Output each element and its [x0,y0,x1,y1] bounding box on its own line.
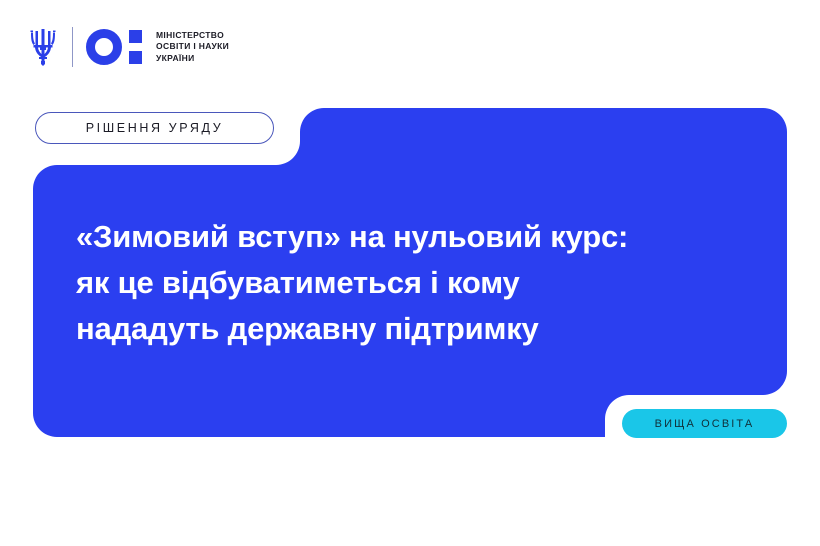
ministry-line-1: МІНІСТЕРСТВО [156,30,229,42]
ministry-line-2: ОСВІТИ І НАУКИ [156,41,229,53]
square-marks-group [129,30,142,64]
square-mark-top-icon [129,30,142,43]
category-tag-label: ВИЩА ОСВІТА [655,418,755,430]
ring-o-mark-icon [86,29,122,65]
government-decision-label: РІШЕННЯ УРЯДУ [86,121,224,135]
ukraine-trident-icon [28,28,58,66]
square-mark-bottom-icon [129,51,142,64]
category-tag-higher-education: ВИЩА ОСВІТА [622,409,787,438]
ministry-logo-bar: МІНІСТЕРСТВО ОСВІТИ І НАУКИ УКРАЇНИ [28,22,229,72]
logo-divider [72,27,73,67]
government-decision-badge: РІШЕННЯ УРЯДУ [35,112,274,144]
headline-line-1: «Зимовий вступ» на нульовий курс: [76,214,766,260]
ministry-name: МІНІСТЕРСТВО ОСВІТИ І НАУКИ УКРАЇНИ [156,30,229,65]
ministry-line-3: УКРАЇНИ [156,53,229,65]
headline-line-3: нададуть державну підтримку [76,306,766,352]
headline-line-2: як це відбуватиметься і кому [76,260,766,306]
page-title: «Зимовий вступ» на нульовий курс: як це … [76,214,766,352]
